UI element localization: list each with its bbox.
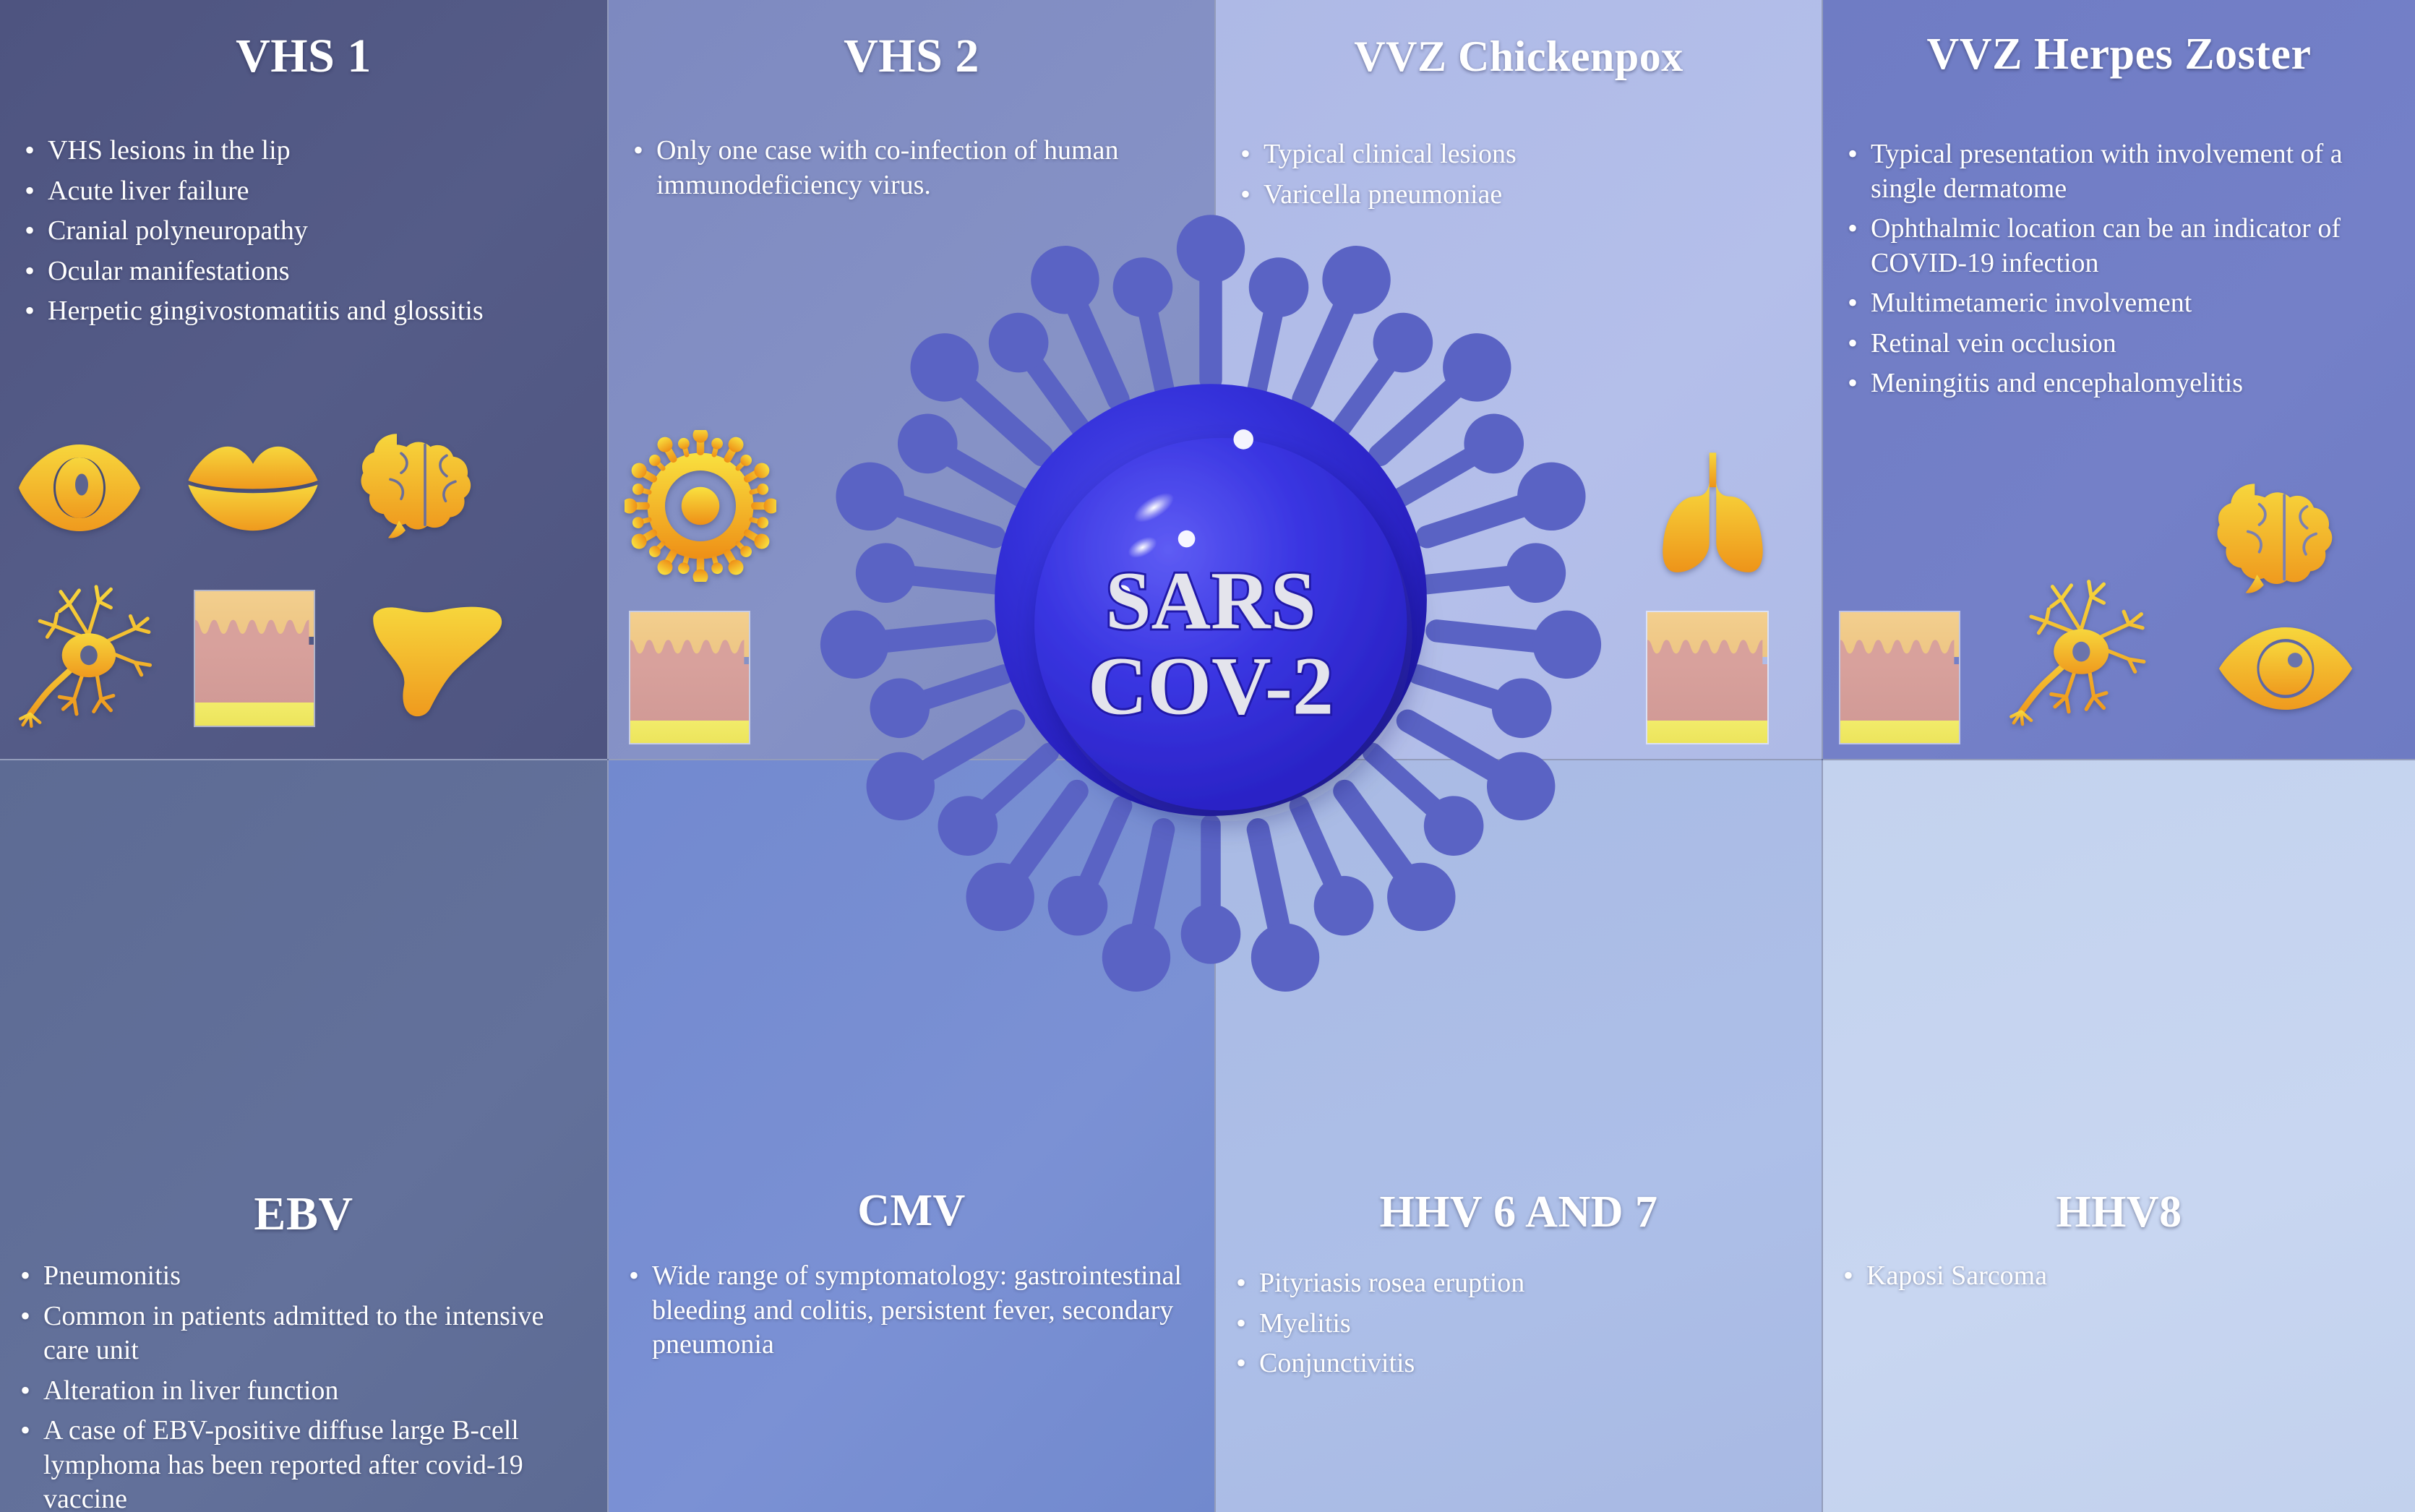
eye-icon [2217, 622, 2354, 716]
figure-canvas: VHS 1 VHS lesions in the lip Acute liver… [0, 0, 2415, 1512]
list-item: Pityriasis rosea eruption [1229, 1266, 1800, 1301]
bullet-list-herpes-zoster: Typical presentation with involvement of… [1840, 137, 2411, 407]
dermis-layer [1840, 664, 1959, 723]
list-item: Cranial polyneuropathy [17, 214, 596, 249]
dermal-papillae [630, 633, 749, 667]
bullet-list-ebv: Pneumonitis Common in patients admitted … [13, 1259, 591, 1512]
virus-icon [625, 430, 776, 582]
skin-icon [1839, 611, 1960, 744]
list-item: Pneumonitis [13, 1259, 591, 1294]
list-item: Ophthalmic location can be an indicator … [1840, 212, 2411, 280]
list-item: VHS lesions in the lip [17, 134, 596, 168]
neuron-icon [2004, 571, 2166, 734]
eye-icon [14, 434, 145, 542]
panel-title-ebv: EBV [0, 1187, 607, 1242]
panel-herpes-zoster: VVZ Herpes Zoster Typical presentation w… [1823, 0, 2415, 759]
neuron-icon [13, 578, 172, 734]
subcutaneous-layer [1647, 721, 1767, 743]
specular-highlight [1178, 531, 1196, 548]
lungs-icon [1650, 448, 1776, 575]
bullet-list-cmv: Wide range of symptomatology: gastrointe… [622, 1259, 1200, 1368]
panel-title-hhv8: HHV8 [1823, 1187, 2415, 1238]
list-item: Alteration in liver function [13, 1374, 591, 1409]
liver-icon [361, 603, 506, 719]
panel-title-vhs1: VHS 1 [0, 29, 607, 84]
brain-icon [358, 426, 488, 542]
panel-title-chickenpox: VVZ Chickenpox [1216, 32, 1822, 82]
dermis-layer [195, 645, 314, 705]
panel-title-herpes-zoster: VVZ Herpes Zoster [1823, 29, 2415, 80]
list-item: Meningitis and encephalomyelitis [1840, 366, 2411, 401]
list-item: Typical clinical lesions [1233, 137, 1804, 172]
panel-ebv: EBV Pneumonitis Common in patients admit… [0, 760, 607, 1512]
list-item: Ocular manifestations [17, 254, 596, 289]
lips-icon [184, 441, 322, 535]
list-item: Wide range of symptomatology: gastrointe… [622, 1259, 1200, 1362]
skin-icon [194, 590, 315, 727]
dermis-layer [1647, 664, 1767, 723]
skin-icon [1646, 611, 1769, 744]
skin-icon [629, 611, 750, 744]
list-item: Multimetameric involvement [1840, 286, 2411, 321]
list-item: Acute liver failure [17, 174, 596, 209]
dermal-papillae [195, 613, 314, 648]
subcutaneous-layer [195, 703, 314, 726]
sars-cov-2-virus-graphic: SARS COV-2 [784, 181, 1637, 1034]
dermal-papillae [1840, 633, 1959, 667]
list-item: Common in patients admitted to the inten… [13, 1300, 591, 1368]
list-item: Typical presentation with involvement of… [1840, 137, 2411, 206]
list-item: Kaposi Sarcoma [1836, 1259, 2407, 1294]
bullet-list-hhv8: Kaposi Sarcoma [1836, 1259, 2407, 1300]
subcutaneous-layer [630, 721, 749, 743]
panel-title-cmv: CMV [609, 1185, 1214, 1237]
brain-icon [2213, 477, 2351, 596]
panel-vhs1: VHS 1 VHS lesions in the lip Acute liver… [0, 0, 607, 759]
list-item: Myelitis [1229, 1307, 1800, 1341]
list-item: Conjunctivitis [1229, 1346, 1800, 1381]
list-item: A case of EBV-positive diffuse large B-c… [13, 1414, 591, 1512]
dermal-papillae [1647, 633, 1767, 667]
panel-divider-vertical-1 [607, 0, 609, 1512]
list-item: Retinal vein occlusion [1840, 327, 2411, 361]
panel-title-vhs2: VHS 2 [609, 29, 1214, 84]
panel-hhv8: HHV8 Kaposi Sarcoma [1823, 760, 2415, 1512]
virus-label-line2: COV-2 [1088, 640, 1334, 732]
bullet-list-hhv6-and-7: Pityriasis rosea eruption Myelitis Conju… [1229, 1266, 1800, 1387]
dermis-layer [630, 664, 749, 723]
specular-highlight [1233, 429, 1253, 450]
list-item: Herpetic gingivostomatitis and glossitis [17, 294, 596, 329]
subcutaneous-layer [1840, 721, 1959, 743]
panel-title-hhv6-and-7: HHV 6 AND 7 [1216, 1187, 1822, 1238]
bullet-list-vhs1: VHS lesions in the lip Acute liver failu… [17, 134, 596, 335]
virus-label-line1: SARS [1105, 555, 1316, 647]
panel-divider-vertical-3 [1822, 0, 1823, 1512]
